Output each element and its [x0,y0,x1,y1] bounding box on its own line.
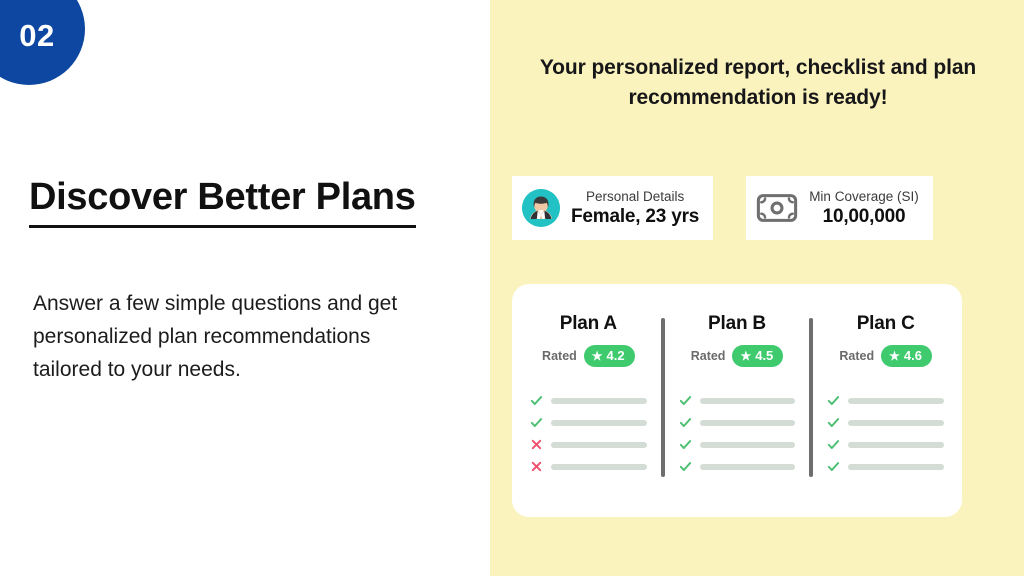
feature-row [679,460,802,473]
feature-row [530,394,653,407]
feature-placeholder-bar [700,420,796,426]
feature-placeholder-bar [700,442,796,448]
left-panel: Discover Better Plans Answer a few simpl… [0,0,490,576]
min-coverage-label: Min Coverage (SI) [809,188,919,205]
feature-placeholder-bar [700,464,796,470]
check-icon [679,394,692,407]
rating-value-a: 4.2 [607,348,625,363]
check-icon [679,460,692,473]
star-icon: ★ [740,350,751,362]
feature-list-b [673,394,802,473]
rating-value-c: 4.6 [904,348,922,363]
feature-placeholder-bar [848,442,944,448]
plan-column-b[interactable]: Plan B Rated ★ 4.5 [665,300,810,499]
cross-icon [530,460,543,473]
rating-badge-b: ★ 4.5 [732,345,783,367]
rated-label-c: Rated [839,349,874,363]
feature-row [679,416,802,429]
plan-name-b: Plan B [673,313,802,335]
slide-root: Discover Better Plans Answer a few simpl… [0,0,1024,576]
check-icon [679,416,692,429]
plan-rating-c: Rated ★ 4.6 [821,345,950,367]
rating-badge-c: ★ 4.6 [881,345,932,367]
feature-placeholder-bar [551,464,647,470]
check-icon [530,416,543,429]
plan-rating-a: Rated ★ 4.2 [524,345,653,367]
check-icon [679,438,692,451]
feature-row [530,416,653,429]
rated-label-b: Rated [691,349,726,363]
feature-row [827,416,950,429]
check-icon [530,394,543,407]
feature-row [827,394,950,407]
feature-placeholder-bar [848,420,944,426]
page-title: Discover Better Plans [29,176,416,228]
min-coverage-card: Min Coverage (SI) 10,00,000 [746,176,933,240]
feature-placeholder-bar [848,398,944,404]
check-icon [827,438,840,451]
rated-label-a: Rated [542,349,577,363]
feature-placeholder-bar [848,464,944,470]
feature-placeholder-bar [551,398,647,404]
feature-row [827,438,950,451]
feature-placeholder-bar [700,398,796,404]
banknote-icon [756,193,798,223]
info-card-group: Personal Details Female, 23 yrs Min Cove… [512,176,1004,240]
plan-name-a: Plan A [524,313,653,335]
right-panel: Your personalized report, checklist and … [490,0,1024,576]
personal-details-value: Female, 23 yrs [571,205,699,229]
star-icon: ★ [592,350,603,362]
feature-placeholder-bar [551,420,647,426]
cross-icon [530,438,543,451]
avatar-woman-icon [522,189,560,227]
plan-column-c[interactable]: Plan C Rated ★ 4.6 [813,300,958,499]
feature-row [679,394,802,407]
plan-rating-b: Rated ★ 4.5 [673,345,802,367]
feature-list-c [821,394,950,473]
step-number-label: 02 [19,18,54,54]
feature-placeholder-bar [551,442,647,448]
feature-row [530,460,653,473]
personal-details-card: Personal Details Female, 23 yrs [512,176,713,240]
check-icon [827,460,840,473]
feature-row [530,438,653,451]
plan-name-c: Plan C [821,313,950,335]
page-description: Answer a few simple questions and get pe… [33,287,413,386]
check-icon [827,416,840,429]
check-icon [827,394,840,407]
feature-list-a [524,394,653,473]
feature-row [827,460,950,473]
plan-column-a[interactable]: Plan A Rated ★ 4.2 [516,300,661,499]
min-coverage-value: 10,00,000 [823,205,906,229]
plan-comparison-card: Plan A Rated ★ 4.2 [512,284,962,517]
star-icon: ★ [889,350,900,362]
feature-row [679,438,802,451]
personal-details-label: Personal Details [586,188,684,205]
rating-badge-a: ★ 4.2 [584,345,635,367]
rating-value-b: 4.5 [755,348,773,363]
report-ready-title: Your personalized report, checklist and … [512,53,1004,113]
